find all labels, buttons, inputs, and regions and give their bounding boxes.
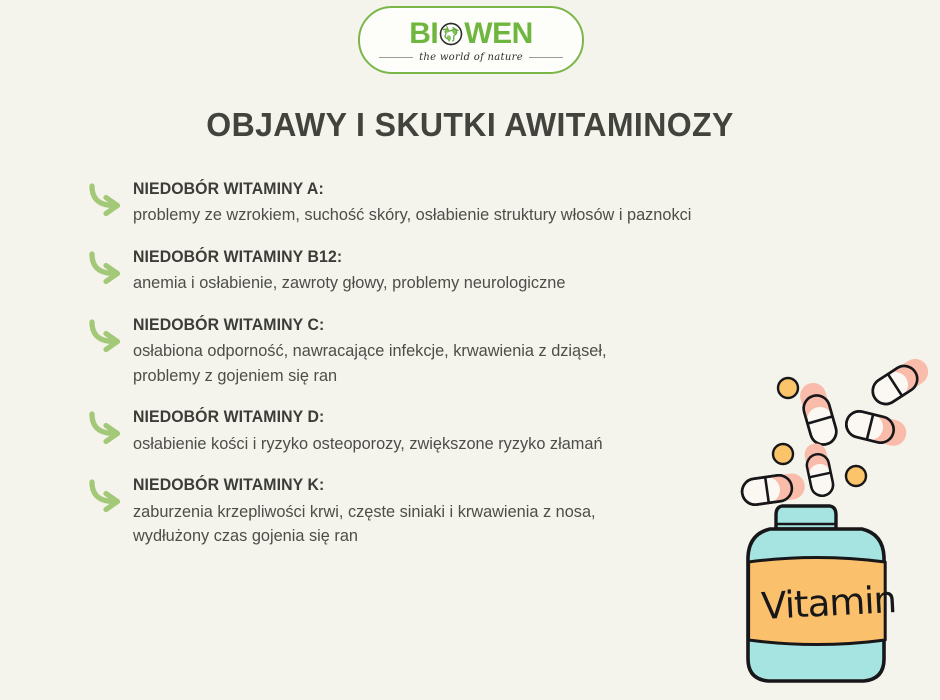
item-description-line: anemia i osłabienie, zawroty głowy, prob… (133, 271, 846, 296)
item-description-line: zaburzenia krzepliwości krwi, częste sin… (133, 500, 846, 525)
logo-inner: BI WEN (362, 10, 580, 70)
item-description: osłabiona odporność, nawracające infekcj… (133, 339, 846, 388)
item-description-line: problemy ze wzrokiem, suchość skóry, osł… (133, 203, 846, 228)
list-item: NIEDOBÓR WITAMINY D: osłabienie kości i … (86, 406, 876, 456)
logo-tagline: the world of nature (419, 52, 523, 63)
item-title: NIEDOBÓR WITAMINY D: (133, 406, 846, 428)
tagline-rule-left (379, 57, 413, 58)
item-description: zaburzenia krzepliwości krwi, częste sin… (133, 500, 846, 549)
brand-logo: BI WEN (358, 6, 584, 74)
curved-arrow-right-icon (86, 410, 128, 448)
item-description-line: wydłużony czas gojenia się ran (133, 524, 846, 549)
list-item: NIEDOBÓR WITAMINY C: osłabiona odporność… (86, 314, 876, 389)
list-item: NIEDOBÓR WITAMINY K: zaburzenia krzepliw… (86, 474, 876, 549)
item-description: anemia i osłabienie, zawroty głowy, prob… (133, 271, 846, 296)
item-description: osłabienie kości i ryzyko osteoporozy, z… (133, 432, 846, 457)
item-title: NIEDOBÓR WITAMINY K: (133, 474, 846, 496)
tagline-rule-right (529, 57, 563, 58)
list-item: NIEDOBÓR WITAMINY A: problemy ze wzrokie… (86, 178, 876, 228)
logo-text-part1: BI (409, 19, 438, 49)
item-description-line: problemy z gojeniem się ran (133, 364, 846, 389)
logo-tagline-row: the world of nature (362, 52, 580, 63)
infographic-page: BI WEN (0, 0, 940, 700)
page-title: OBJAWY I SKUTKI AWITAMINOZY (14, 106, 926, 144)
globe-icon (439, 22, 463, 46)
logo-text-part2: WEN (464, 19, 533, 49)
item-title: NIEDOBÓR WITAMINY A: (133, 178, 846, 200)
item-title: NIEDOBÓR WITAMINY C: (133, 314, 846, 336)
bottle-label-text: Vitamin (760, 578, 897, 628)
curved-arrow-right-icon (86, 478, 128, 516)
logo-wordmark: BI WEN (409, 19, 533, 49)
item-title: NIEDOBÓR WITAMINY B12: (133, 246, 846, 268)
item-description-line: osłabiona odporność, nawracające infekcj… (133, 339, 846, 364)
list-item: NIEDOBÓR WITAMINY B12: anemia i osłabien… (86, 246, 876, 296)
item-description-line: osłabienie kości i ryzyko osteoporozy, z… (133, 432, 846, 457)
curved-arrow-right-icon (86, 250, 128, 288)
item-description: problemy ze wzrokiem, suchość skóry, osł… (133, 203, 846, 228)
deficiency-list: NIEDOBÓR WITAMINY A: problemy ze wzrokie… (86, 178, 876, 567)
curved-arrow-right-icon (86, 182, 128, 220)
curved-arrow-right-icon (86, 318, 128, 356)
